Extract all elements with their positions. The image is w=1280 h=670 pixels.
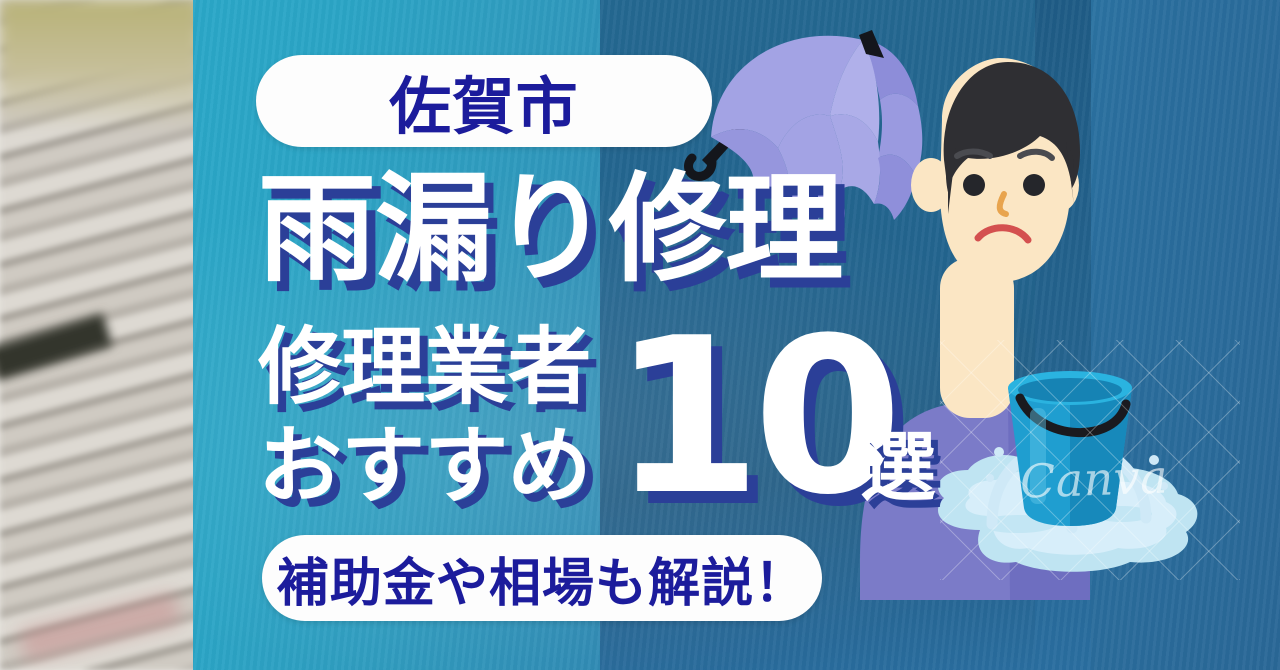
region-badge: 佐賀市 [256,55,712,147]
dark-blue-panel-edge [1035,0,1091,670]
subhead-line-2: おすすめ [258,424,591,508]
subhead-line-1: 修理業者 [258,325,591,409]
thumbnail-canvas: Canva 佐賀市 雨漏り修理 修理業者 おすすめ 10 選 補助金や相場も解説… [0,0,1280,670]
count-number: 10 [612,318,894,516]
region-badge-label: 佐賀市 [389,56,579,146]
count-unit: 選 [860,430,936,506]
subtitle-badge-label: 補助金や相場も解説！ [277,541,807,616]
subtitle-badge: 補助金や相場も解説！ [262,535,822,621]
headline-text: 雨漏り修理 [258,170,842,288]
